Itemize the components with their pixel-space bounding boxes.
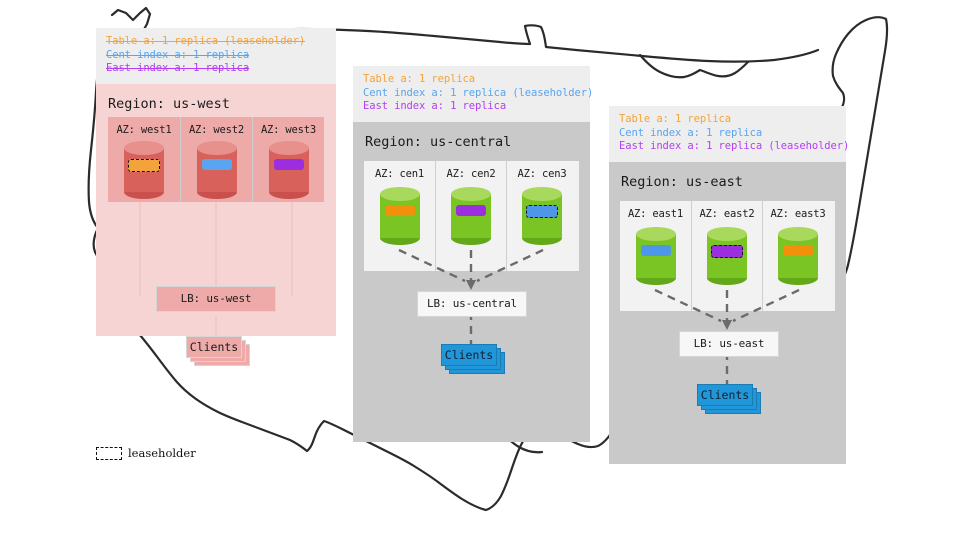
node-cylinder-west2[interactable] xyxy=(197,141,237,199)
az-strip-us-west: AZ: west1 AZ: west2 xyxy=(108,117,324,202)
range-east-index-a[interactable] xyxy=(274,159,304,170)
cylinder-top xyxy=(124,141,164,155)
legend-line-cent-index-a: Cent index a: 1 replica xyxy=(106,49,326,63)
legend-line-table-a: Table a: 1 replica xyxy=(363,73,580,87)
region-panel-us-west: Table a: 1 replica (leaseholder) Cent in… xyxy=(96,28,336,336)
region-body-us-east: Region: us-east AZ: east1 AZ: east2 xyxy=(609,162,846,464)
az-label-west3: AZ: west3 xyxy=(253,117,324,136)
az-card-west2[interactable]: AZ: west2 xyxy=(180,117,252,202)
node-cylinder-west1[interactable] xyxy=(124,141,164,199)
clients-stack-us-west[interactable]: Clients xyxy=(186,336,252,370)
region-legend-us-east: Table a: 1 replica Cent index a: 1 repli… xyxy=(609,106,846,162)
az-label-west2: AZ: west2 xyxy=(181,117,252,136)
region-body-us-west: Region: us-west AZ: west1 xyxy=(96,84,336,336)
load-balancer-us-east[interactable]: LB: us-east xyxy=(679,331,779,357)
arrowhead-to-lb xyxy=(722,320,732,330)
clients-stack-us-east[interactable]: Clients xyxy=(697,384,763,418)
range-table-a-leaseholder[interactable] xyxy=(128,159,160,172)
legend-line-east-index-a: East index a: 1 replica xyxy=(106,62,326,76)
load-balancer-us-central[interactable]: LB: us-central xyxy=(417,291,527,317)
legend-key-label: leaseholder xyxy=(128,446,196,460)
region-panel-us-east: Table a: 1 replica Cent index a: 1 repli… xyxy=(609,106,846,464)
region-legend-us-central: Table a: 1 replica Cent index a: 1 repli… xyxy=(353,66,590,122)
connector-group-us-central xyxy=(353,122,590,442)
clients-us-central[interactable]: Clients xyxy=(441,344,497,366)
az-card-west1[interactable]: AZ: west1 xyxy=(108,117,180,202)
az-card-west3[interactable]: AZ: west3 xyxy=(252,117,324,202)
connector-group-us-east xyxy=(609,162,846,464)
range-cent-index-a[interactable] xyxy=(202,159,232,170)
legend-line-table-a: Table a: 1 replica (leaseholder) xyxy=(106,35,326,49)
legend-line-cent-index-a: Cent index a: 1 replica xyxy=(619,127,836,141)
legend-line-east-index-a: East index a: 1 replica xyxy=(363,100,580,114)
diagram-canvas: Table a: 1 replica (leaseholder) Cent in… xyxy=(0,0,960,540)
arrowhead-to-lb xyxy=(466,280,476,290)
legend-line-table-a: Table a: 1 replica xyxy=(619,113,836,127)
region-legend-us-west: Table a: 1 replica (leaseholder) Cent in… xyxy=(96,28,336,84)
clients-us-west[interactable]: Clients xyxy=(186,336,242,358)
legend-line-east-index-a: East index a: 1 replica (leaseholder) xyxy=(619,140,836,154)
cylinder-top xyxy=(269,141,309,155)
region-panel-us-central: Table a: 1 replica Cent index a: 1 repli… xyxy=(353,66,590,442)
clients-stack-us-central[interactable]: Clients xyxy=(441,344,507,378)
legend-line-cent-index-a: Cent index a: 1 replica (leaseholder) xyxy=(363,87,580,101)
node-cylinder-west3[interactable] xyxy=(269,141,309,199)
region-body-us-central: Region: us-central AZ: cen1 AZ: cen2 xyxy=(353,122,590,442)
clients-us-east[interactable]: Clients xyxy=(697,384,753,406)
load-balancer-us-west[interactable]: LB: us-west xyxy=(156,286,276,312)
cylinder-top xyxy=(197,141,237,155)
dashed-rectangle-icon xyxy=(96,447,122,460)
legend-key: leaseholder xyxy=(96,446,196,460)
az-label-west1: AZ: west1 xyxy=(108,117,180,136)
